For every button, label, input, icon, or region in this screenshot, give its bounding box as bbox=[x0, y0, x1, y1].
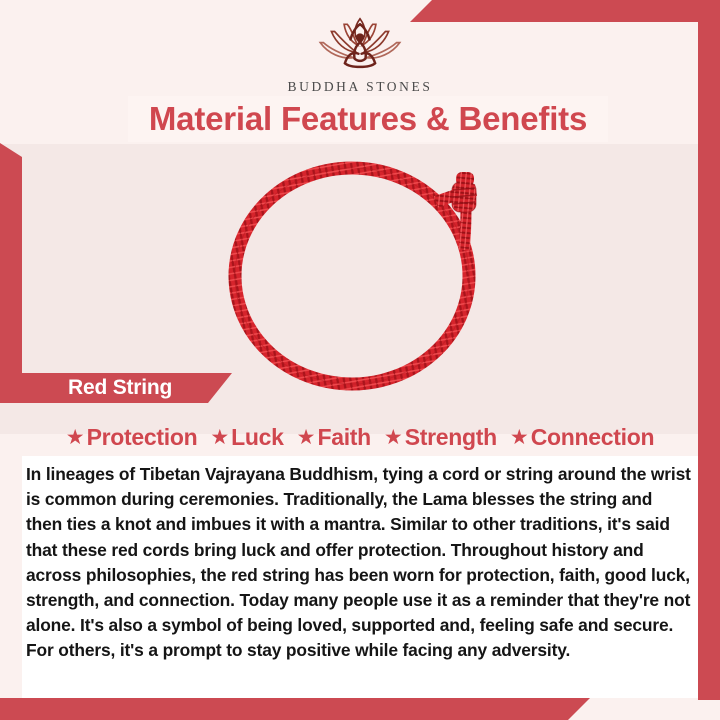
star-icon: ★ bbox=[510, 427, 529, 448]
benefit-protection: ★ Protection bbox=[66, 424, 198, 451]
description-text: In lineages of Tibetan Vajrayana Buddhis… bbox=[26, 462, 692, 664]
benefits-row: ★ Protection ★ Luck ★ Faith ★ Strength ★… bbox=[22, 418, 698, 456]
benefit-label: Strength bbox=[405, 424, 497, 451]
decor-band-bottom bbox=[0, 698, 590, 720]
benefit-label: Luck bbox=[231, 424, 283, 451]
benefit-connection: ★ Connection bbox=[510, 424, 654, 451]
benefit-strength: ★ Strength bbox=[384, 424, 497, 451]
benefit-label: Protection bbox=[87, 424, 198, 451]
benefit-faith: ★ Faith bbox=[297, 424, 371, 451]
benefit-label: Faith bbox=[317, 424, 370, 451]
star-icon: ★ bbox=[66, 427, 85, 448]
description-panel: In lineages of Tibetan Vajrayana Buddhis… bbox=[22, 456, 698, 698]
title-banner: Material Features & Benefits bbox=[128, 96, 608, 142]
decor-band-left bbox=[0, 143, 22, 380]
benefit-label: Connection bbox=[531, 424, 655, 451]
red-braided-string-bracelet bbox=[200, 150, 530, 395]
star-icon: ★ bbox=[297, 427, 316, 448]
page-title: Material Features & Benefits bbox=[149, 100, 587, 138]
lotus-meditation-icon bbox=[312, 14, 408, 76]
brand-name: BUDDHA STONES bbox=[288, 79, 433, 95]
decor-band-right bbox=[698, 0, 720, 700]
brand-logo: BUDDHA STONES bbox=[0, 14, 720, 95]
star-icon: ★ bbox=[210, 427, 229, 448]
star-icon: ★ bbox=[384, 427, 403, 448]
product-label-ribbon: Red String bbox=[22, 373, 232, 403]
poster-canvas: BUDDHA STONES Material Features & Benefi… bbox=[0, 0, 720, 720]
benefit-luck: ★ Luck bbox=[210, 424, 283, 451]
product-label: Red String bbox=[68, 376, 172, 400]
